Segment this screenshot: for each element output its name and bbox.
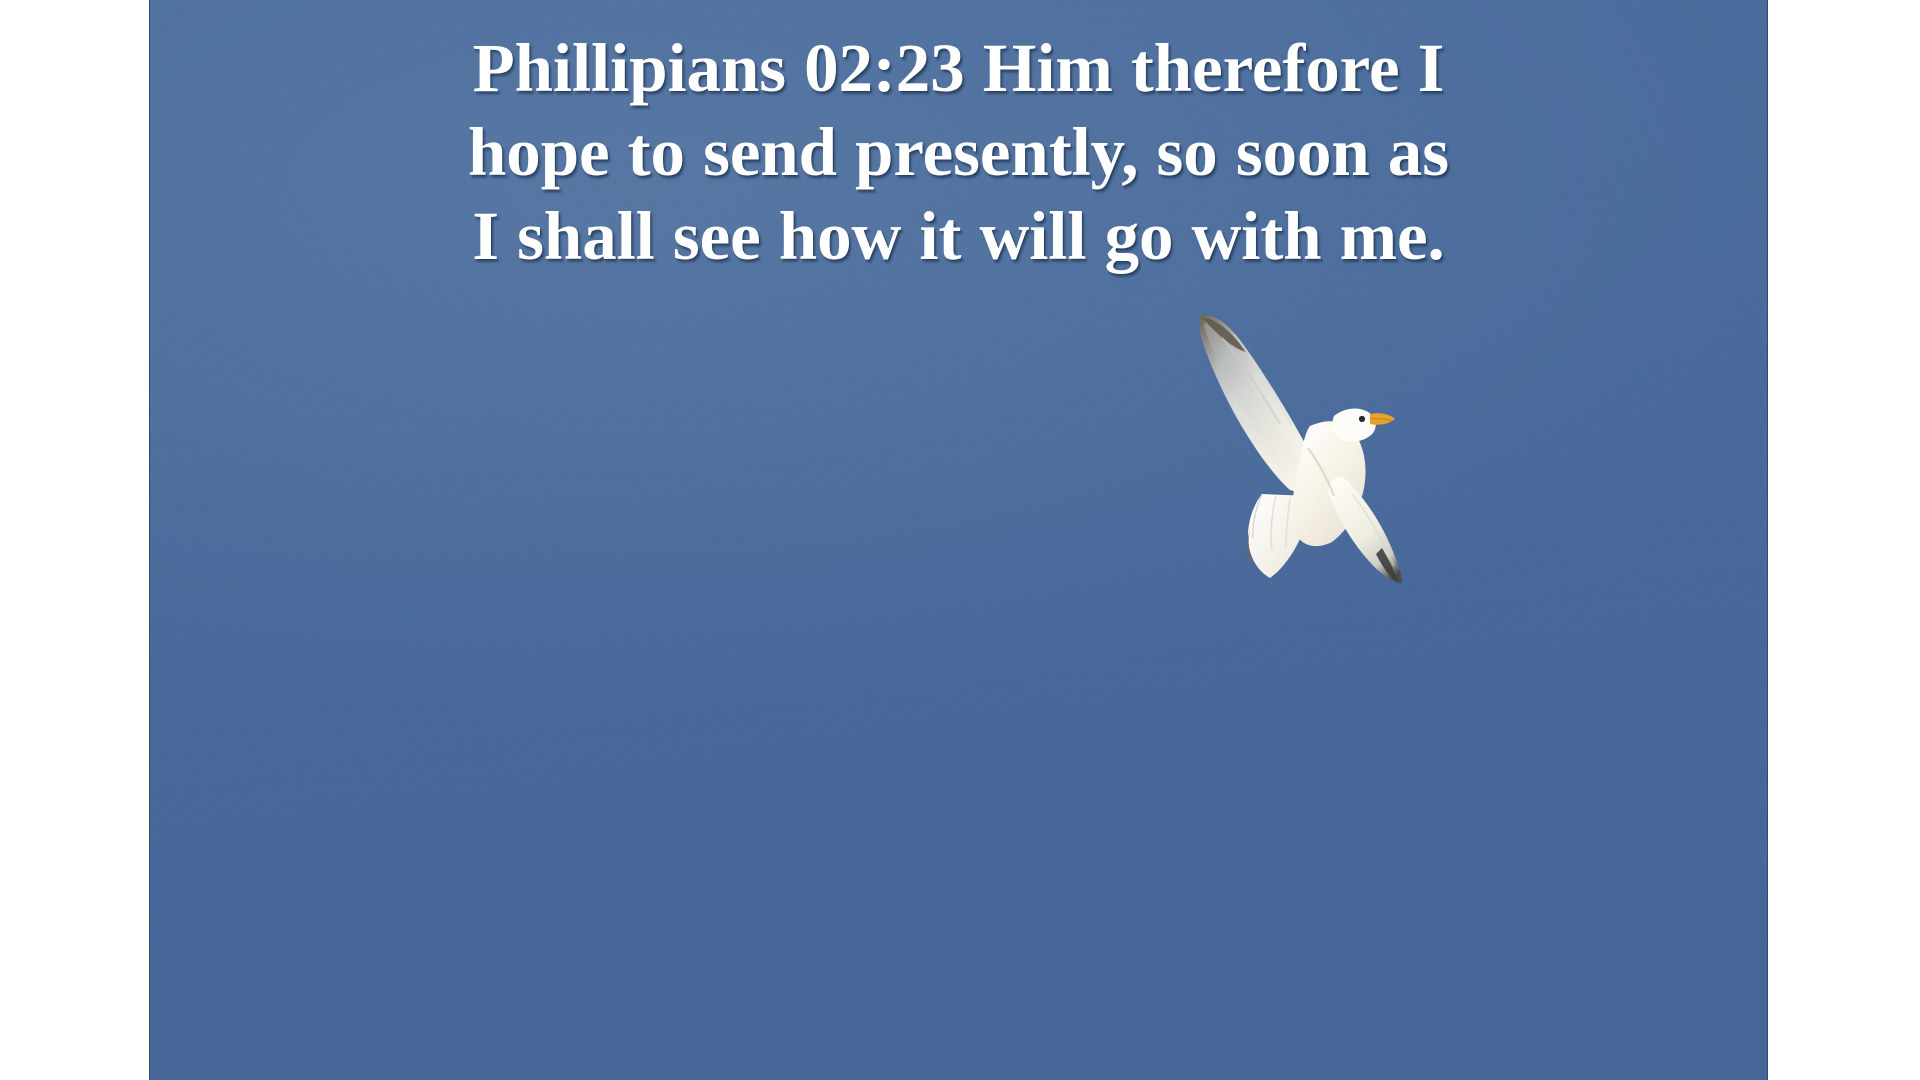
slide-canvas: Phillipians 02:23 Him therefore I hope t… bbox=[0, 0, 1920, 1080]
verse-line-2: hope to send presently, so soon as bbox=[192, 110, 1725, 194]
verse-line-3: I shall see how it will go with me. bbox=[192, 194, 1725, 278]
seagull-icon bbox=[1192, 298, 1402, 583]
verse-text: Phillipians 02:23 Him therefore I hope t… bbox=[150, 26, 1767, 279]
verse-line-1: Phillipians 02:23 Him therefore I bbox=[192, 26, 1725, 110]
photo-plate: Phillipians 02:23 Him therefore I hope t… bbox=[149, 0, 1768, 1080]
